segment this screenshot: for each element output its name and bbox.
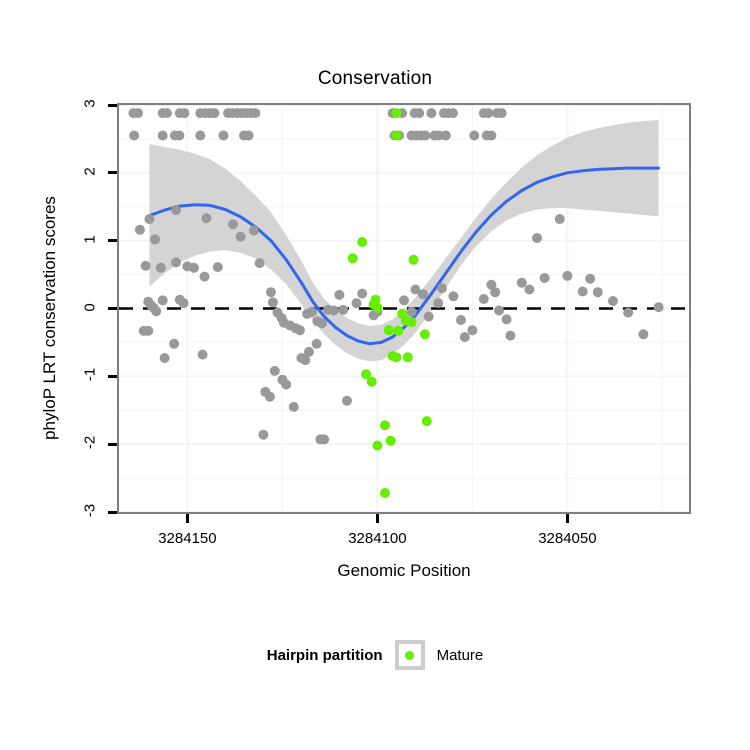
data-point-other[interactable] — [179, 108, 189, 118]
data-point-other[interactable] — [171, 257, 181, 267]
data-point-other[interactable] — [329, 306, 339, 316]
data-point-other[interactable] — [555, 214, 565, 224]
data-point-other[interactable] — [448, 291, 458, 301]
data-point-other[interactable] — [334, 290, 344, 300]
data-point-other[interactable] — [228, 219, 238, 229]
data-point-other[interactable] — [312, 339, 322, 349]
data-point-mature[interactable] — [372, 441, 382, 451]
data-point-other[interactable] — [486, 131, 496, 141]
data-point-other[interactable] — [483, 108, 493, 118]
y-tick-mark — [108, 171, 117, 174]
data-point-mature[interactable] — [403, 352, 413, 362]
data-point-other[interactable] — [156, 263, 166, 273]
data-point-other[interactable] — [448, 108, 458, 118]
data-point-other[interactable] — [532, 233, 542, 243]
y-tick-mark — [108, 307, 117, 310]
data-point-other[interactable] — [460, 332, 470, 342]
x-tick-mark — [186, 514, 189, 523]
data-point-other[interactable] — [524, 285, 534, 295]
y-tick-mark — [108, 104, 117, 107]
data-point-other[interactable] — [201, 213, 211, 223]
data-point-mature[interactable] — [386, 436, 396, 446]
data-point-other[interactable] — [129, 131, 139, 141]
data-point-other[interactable] — [418, 289, 428, 299]
data-point-other[interactable] — [357, 289, 367, 299]
data-point-other[interactable] — [270, 366, 280, 376]
x-tick-label: 3284150 — [127, 530, 247, 547]
data-point-other[interactable] — [268, 297, 278, 307]
page-title: Conservation — [0, 68, 750, 90]
data-point-other[interactable] — [623, 308, 633, 318]
legend-key-mature[interactable] — [395, 640, 425, 670]
y-axis-label: phyloP LRT conservation scores — [40, 108, 60, 528]
y-tick-mark — [108, 239, 117, 242]
data-point-other[interactable] — [281, 380, 291, 390]
data-point-other[interactable] — [258, 430, 268, 440]
data-point-other[interactable] — [171, 205, 181, 215]
data-point-other[interactable] — [158, 295, 168, 305]
data-point-mature[interactable] — [391, 352, 401, 362]
data-point-other[interactable] — [307, 307, 317, 317]
data-point-other[interactable] — [151, 306, 161, 316]
data-point-other[interactable] — [456, 315, 466, 325]
x-tick-label: 3284100 — [317, 530, 437, 547]
plot-area — [119, 105, 689, 512]
data-point-other[interactable] — [585, 274, 595, 284]
y-tick-label: 1 — [82, 224, 99, 254]
data-point-other[interactable] — [424, 312, 434, 322]
data-point-other[interactable] — [236, 232, 246, 242]
y-tick-label: 0 — [82, 292, 99, 322]
data-point-other[interactable] — [250, 108, 260, 118]
data-point-other[interactable] — [158, 131, 168, 141]
data-point-mature[interactable] — [380, 420, 390, 430]
data-point-other[interactable] — [174, 131, 184, 141]
data-point-other[interactable] — [244, 131, 254, 141]
data-point-mature[interactable] — [357, 237, 367, 247]
data-point-other[interactable] — [502, 314, 512, 324]
data-point-other[interactable] — [144, 214, 154, 224]
data-point-mature[interactable] — [409, 255, 419, 265]
x-axis-label: Genomic Position — [117, 561, 691, 581]
data-point-other[interactable] — [198, 350, 208, 360]
legend: Hairpin partition Mature — [0, 640, 750, 670]
data-point-other[interactable] — [433, 298, 443, 308]
data-point-other[interactable] — [593, 287, 603, 297]
data-point-other[interactable] — [195, 131, 205, 141]
data-point-mature[interactable] — [422, 416, 432, 426]
data-point-other[interactable] — [414, 108, 424, 118]
data-point-other[interactable] — [209, 108, 219, 118]
y-tick-label: 3 — [82, 89, 99, 119]
data-point-other[interactable] — [179, 298, 189, 308]
data-point-mature[interactable] — [372, 303, 382, 313]
data-point-other[interactable] — [295, 325, 305, 335]
data-point-other[interactable] — [141, 261, 151, 271]
data-point-other[interactable] — [338, 305, 348, 315]
data-point-other[interactable] — [490, 287, 500, 297]
data-point-other[interactable] — [213, 262, 223, 272]
data-point-other[interactable] — [143, 326, 153, 336]
y-tick-label: -3 — [82, 496, 99, 526]
data-point-other[interactable] — [654, 302, 664, 312]
data-point-other[interactable] — [133, 108, 143, 118]
data-point-other[interactable] — [150, 234, 160, 244]
data-point-mature[interactable] — [393, 326, 403, 336]
y-tick-label: 2 — [82, 156, 99, 186]
data-point-other[interactable] — [265, 392, 275, 402]
data-point-other[interactable] — [479, 294, 489, 304]
y-tick-mark — [108, 443, 117, 446]
data-point-other[interactable] — [578, 287, 588, 297]
data-point-other[interactable] — [469, 131, 479, 141]
data-point-other[interactable] — [437, 283, 447, 293]
y-tick-label: -1 — [82, 360, 99, 390]
data-point-other[interactable] — [540, 273, 550, 283]
legend-dot-icon — [405, 651, 414, 660]
data-point-mature[interactable] — [391, 131, 401, 141]
data-point-other[interactable] — [420, 131, 430, 141]
data-point-other[interactable] — [255, 258, 265, 268]
data-point-mature[interactable] — [407, 317, 417, 327]
data-point-other[interactable] — [494, 306, 504, 316]
data-point-other[interactable] — [317, 318, 327, 328]
data-point-other[interactable] — [638, 329, 648, 339]
data-point-other[interactable] — [304, 347, 314, 357]
data-point-other[interactable] — [169, 339, 179, 349]
x-tick-mark — [566, 514, 569, 523]
data-point-other[interactable] — [219, 131, 229, 141]
data-point-other[interactable] — [266, 287, 276, 297]
data-point-other[interactable] — [505, 331, 515, 341]
data-point-other[interactable] — [352, 298, 362, 308]
x-tick-label: 3284050 — [507, 530, 627, 547]
data-point-other[interactable] — [160, 353, 170, 363]
data-point-other[interactable] — [162, 108, 172, 118]
x-tick-mark — [376, 514, 379, 523]
data-point-other[interactable] — [399, 295, 409, 305]
data-point-other[interactable] — [189, 263, 199, 273]
data-point-other[interactable] — [426, 108, 436, 118]
legend-label-mature: Mature — [437, 647, 484, 664]
data-point-mature[interactable] — [348, 253, 358, 263]
data-point-other[interactable] — [135, 225, 145, 235]
data-point-other[interactable] — [249, 226, 259, 236]
data-point-other[interactable] — [562, 271, 572, 281]
data-point-other[interactable] — [517, 278, 527, 288]
data-point-mature[interactable] — [391, 108, 401, 118]
data-point-other[interactable] — [319, 434, 329, 444]
data-point-other[interactable] — [407, 307, 417, 317]
data-point-mature[interactable] — [384, 325, 394, 335]
data-point-other[interactable] — [497, 108, 507, 118]
plot-panel — [117, 103, 691, 514]
y-tick-mark — [108, 511, 117, 514]
y-tick-mark — [108, 375, 117, 378]
legend-title: Hairpin partition — [267, 647, 383, 664]
data-point-other[interactable] — [342, 396, 352, 406]
data-point-mature[interactable] — [380, 488, 390, 498]
data-point-other[interactable] — [289, 402, 299, 412]
data-point-other[interactable] — [200, 272, 210, 282]
data-point-other[interactable] — [467, 325, 477, 335]
y-tick-label: -2 — [82, 428, 99, 458]
data-point-other[interactable] — [441, 131, 451, 141]
data-point-mature[interactable] — [367, 377, 377, 387]
conservation-chart-figure: Conservation phyloP LRT conservation sco… — [0, 0, 750, 750]
data-point-mature[interactable] — [420, 329, 430, 339]
data-point-other[interactable] — [608, 296, 618, 306]
